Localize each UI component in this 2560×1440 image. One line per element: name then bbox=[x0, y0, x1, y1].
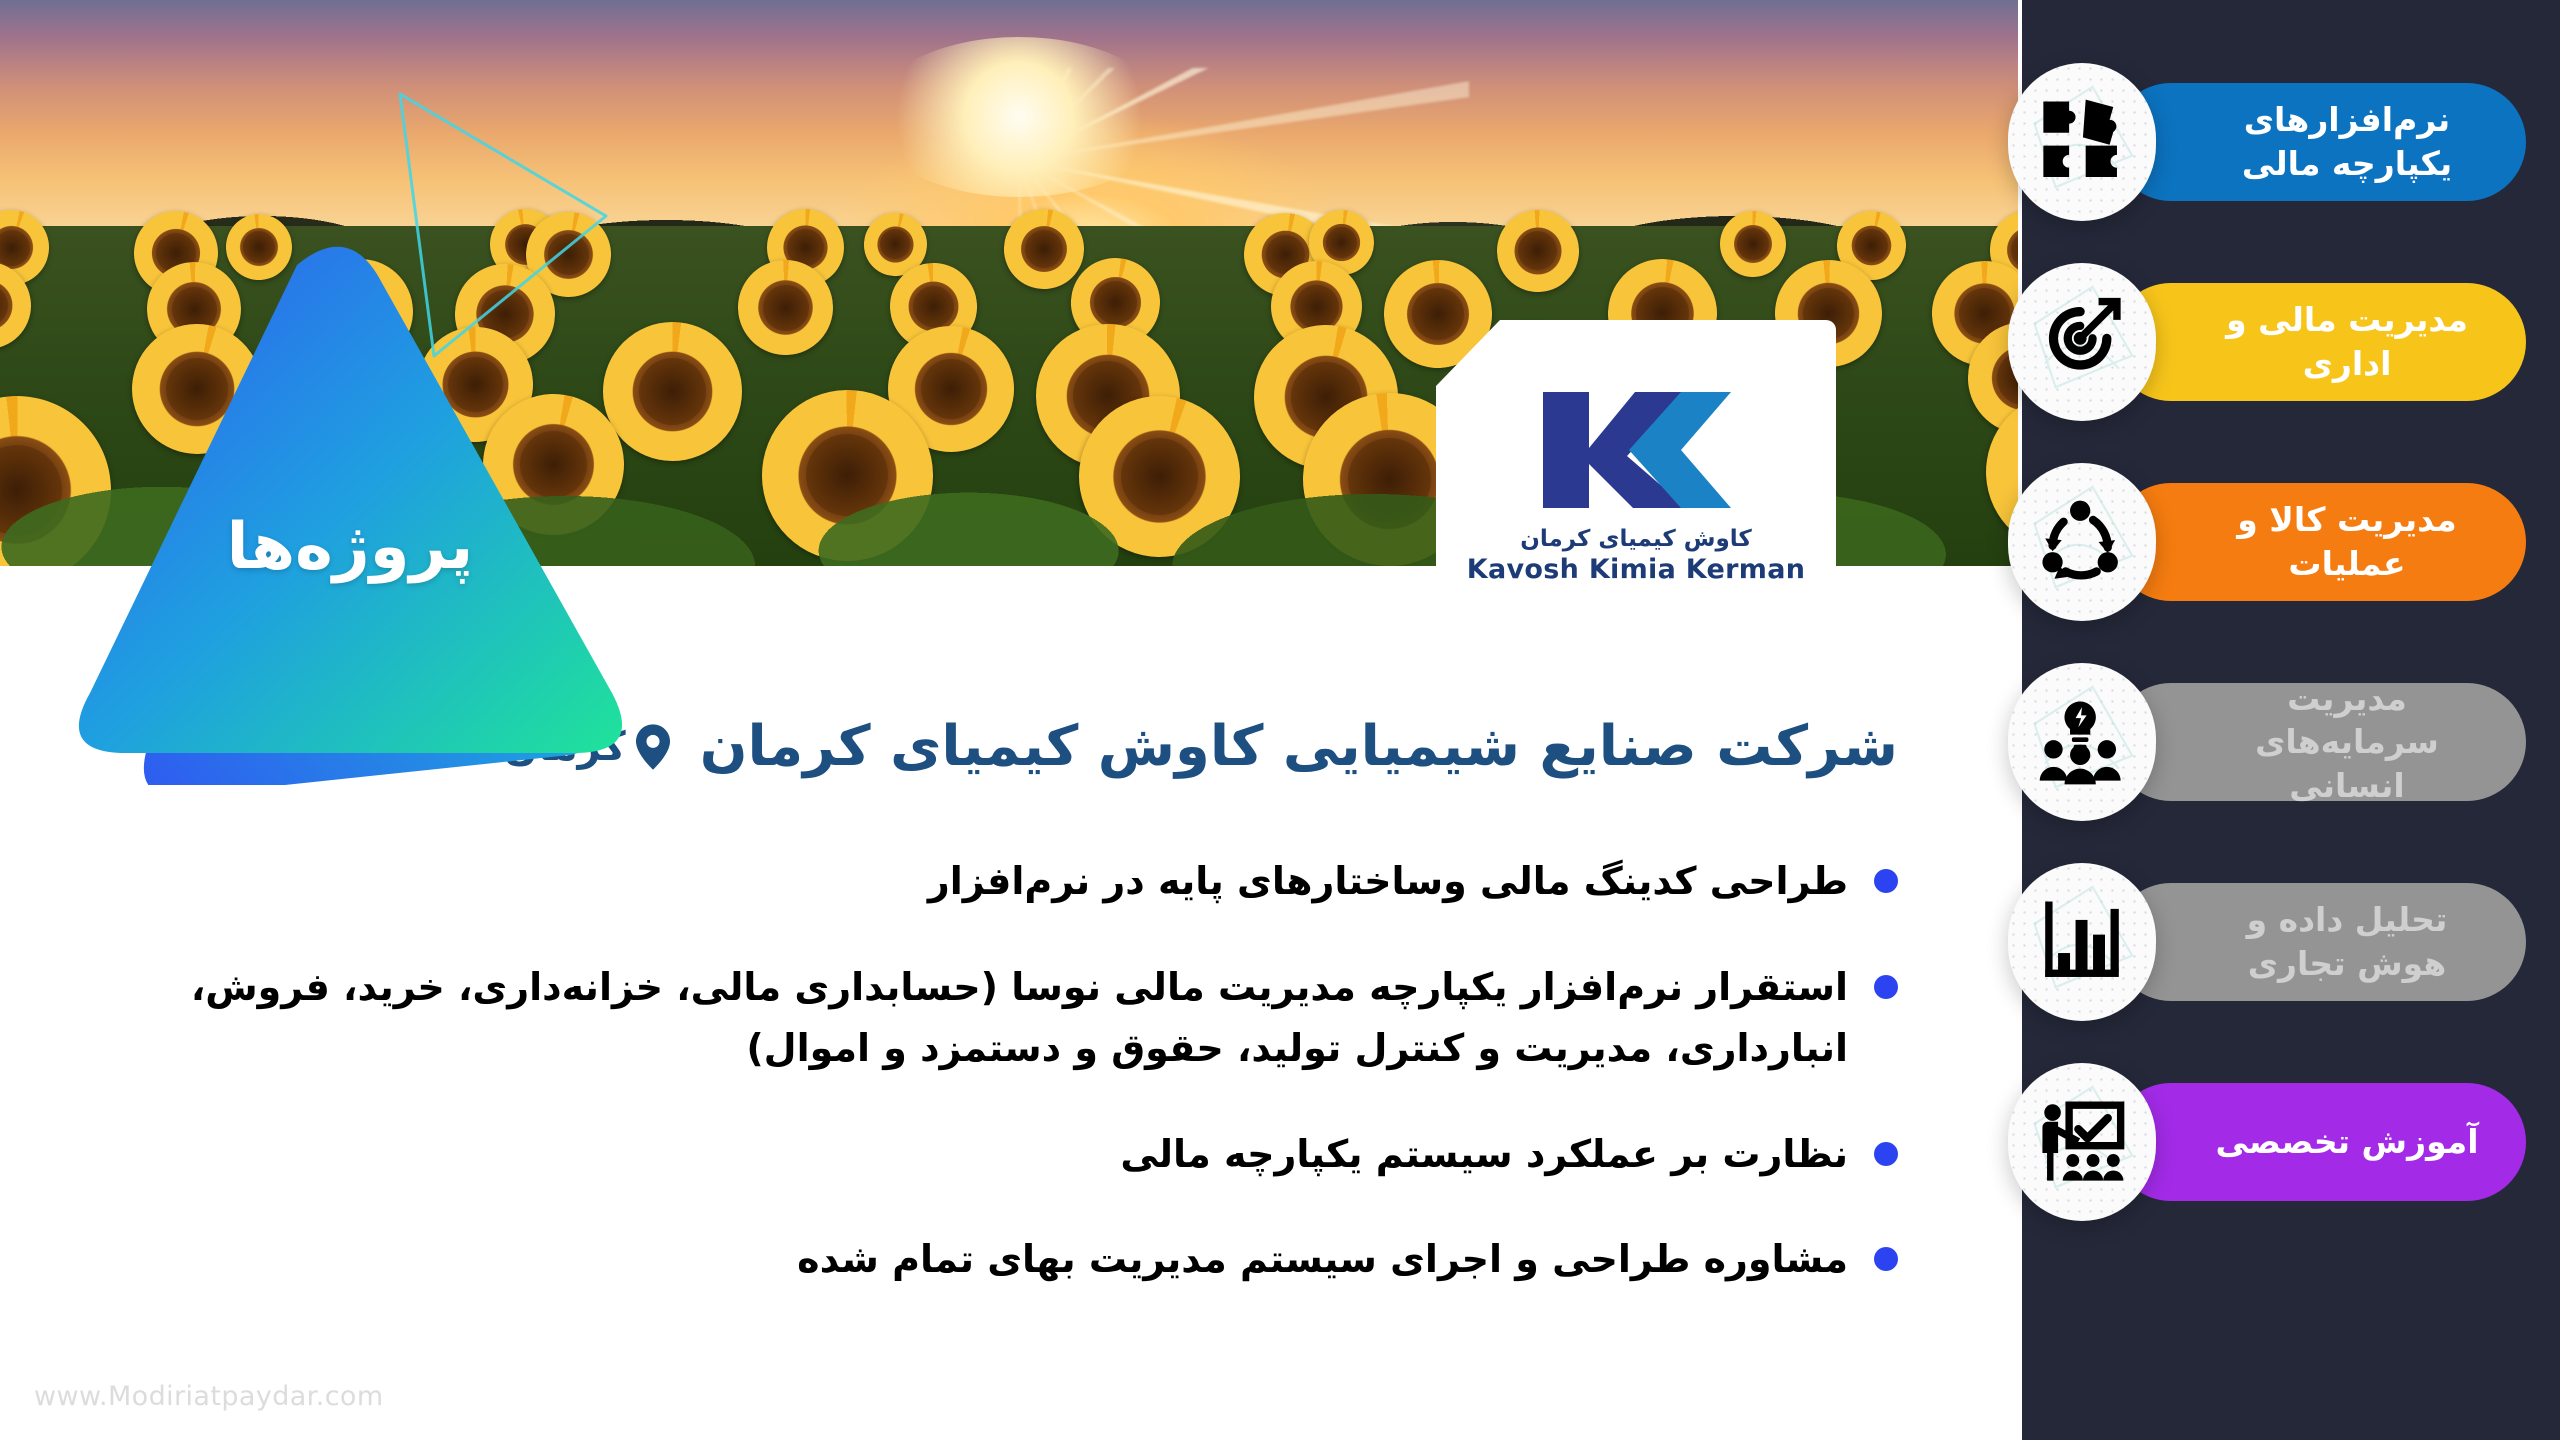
team-idea-icon[interactable] bbox=[2008, 663, 2156, 821]
cycle-arrows-icon[interactable] bbox=[2008, 463, 2156, 621]
sidebar-item-pill[interactable]: مدیریت کالا و عملیات bbox=[2112, 483, 2526, 601]
training-board-icon-glyph bbox=[2036, 1096, 2128, 1188]
bullet-item: نظارت بر عملکرد سیستم یکپارچه مالی bbox=[180, 1124, 1898, 1186]
cycle-arrows-icon-glyph bbox=[2036, 496, 2128, 588]
sidebar-item-pill[interactable]: مدیریت سرمایه‌های انسانی bbox=[2112, 683, 2526, 801]
page-title: شرکت صنایع شیمیایی کاوش کیمیای کرمان bbox=[700, 714, 1898, 779]
team-idea-icon-glyph bbox=[2036, 696, 2128, 788]
sidebar-item-label: آموزش تخصصی bbox=[2208, 1120, 2486, 1164]
target-arrow-icon[interactable] bbox=[2008, 263, 2156, 421]
bullet-text: مشاوره طراحی و اجرای سیستم مدیریت بهای ت… bbox=[797, 1229, 1848, 1291]
sidebar-item-label: مدیریت سرمایه‌های انسانی bbox=[2208, 677, 2486, 808]
target-arrow-icon-glyph bbox=[2036, 296, 2128, 388]
sidebar-item-4[interactable]: مدیریت سرمایه‌های انسانی bbox=[2022, 662, 2560, 822]
sidebar-item-pill[interactable]: آموزش تخصصی bbox=[2112, 1083, 2526, 1201]
bullet-item: استقرار نرم‌افزار یکپارچه مدیریت مالی نو… bbox=[180, 957, 1898, 1080]
sidebar-item-3[interactable]: مدیریت کالا و عملیات bbox=[2022, 462, 2560, 622]
sidebar-item-label: نرم‌افزارهای یکپارچه مالی bbox=[2208, 98, 2486, 185]
sidebar-menu: نرم‌افزارهای یکپارچه مالیمدیریت مالی و ا… bbox=[2022, 0, 2560, 1440]
badge-label: پروژه‌ها bbox=[52, 510, 648, 584]
bullet-text: استقرار نرم‌افزار یکپارچه مدیریت مالی نو… bbox=[180, 957, 1848, 1080]
sidebar-item-1[interactable]: نرم‌افزارهای یکپارچه مالی bbox=[2022, 62, 2560, 222]
site-watermark: www.Modiriatpaydar.com bbox=[34, 1381, 384, 1412]
company-logo-card: کاوش کیمیای کرمان Kavosh Kimia Kerman bbox=[1436, 320, 1836, 620]
logo-fa-name: کاوش کیمیای کرمان bbox=[1520, 526, 1752, 552]
puzzle-icon-glyph bbox=[2036, 96, 2128, 188]
title-row: شرکت صنایع شیمیایی کاوش کیمیای کرمان کرم… bbox=[504, 714, 1898, 779]
bullet-dot-icon bbox=[1874, 975, 1898, 999]
sidebar-item-label: تحلیل داده و هوش تجاری bbox=[2208, 898, 2486, 985]
bullet-text: طراحی کدینگ مالی وساختارهای پایه در نرم‌… bbox=[928, 851, 1848, 913]
sidebar-item-2[interactable]: مدیریت مالی و اداری bbox=[2022, 262, 2560, 422]
bullet-item: طراحی کدینگ مالی وساختارهای پایه در نرم‌… bbox=[180, 851, 1898, 913]
sidebar-item-6[interactable]: آموزش تخصصی bbox=[2022, 1062, 2560, 1222]
sidebar-item-pill[interactable]: تحلیل داده و هوش تجاری bbox=[2112, 883, 2526, 1001]
bar-chart-icon-glyph bbox=[2036, 896, 2128, 988]
sunflower-head bbox=[1719, 211, 1786, 278]
sidebar-item-pill[interactable]: مدیریت مالی و اداری bbox=[2112, 283, 2526, 401]
training-board-icon[interactable] bbox=[2008, 1063, 2156, 1221]
puzzle-icon[interactable] bbox=[2008, 63, 2156, 221]
sidebar-item-label: مدیریت کالا و عملیات bbox=[2208, 498, 2486, 585]
sidebar-item-pill[interactable]: نرم‌افزارهای یکپارچه مالی bbox=[2112, 83, 2526, 201]
sunflower-head bbox=[1494, 207, 1582, 295]
bullet-text: نظارت بر عملکرد سیستم یکپارچه مالی bbox=[1120, 1124, 1848, 1186]
bullet-item: مشاوره طراحی و اجرای سیستم مدیریت بهای ت… bbox=[180, 1229, 1898, 1291]
sunflower-head bbox=[1000, 205, 1088, 293]
sidebar-item-label: مدیریت مالی و اداری bbox=[2208, 298, 2486, 385]
kk-monogram-icon bbox=[1531, 386, 1741, 514]
logo-en-name: Kavosh Kimia Kerman bbox=[1467, 554, 1806, 585]
bullet-list: طراحی کدینگ مالی وساختارهای پایه در نرم‌… bbox=[180, 851, 1898, 1335]
projects-badge[interactable]: پروژه‌ها bbox=[52, 225, 648, 785]
bar-chart-icon[interactable] bbox=[2008, 863, 2156, 1021]
badge-triangle-shape bbox=[52, 225, 648, 785]
sidebar-item-5[interactable]: تحلیل داده و هوش تجاری bbox=[2022, 862, 2560, 1022]
bullet-dot-icon bbox=[1874, 869, 1898, 893]
bullet-dot-icon bbox=[1874, 1142, 1898, 1166]
bullet-dot-icon bbox=[1874, 1247, 1898, 1271]
